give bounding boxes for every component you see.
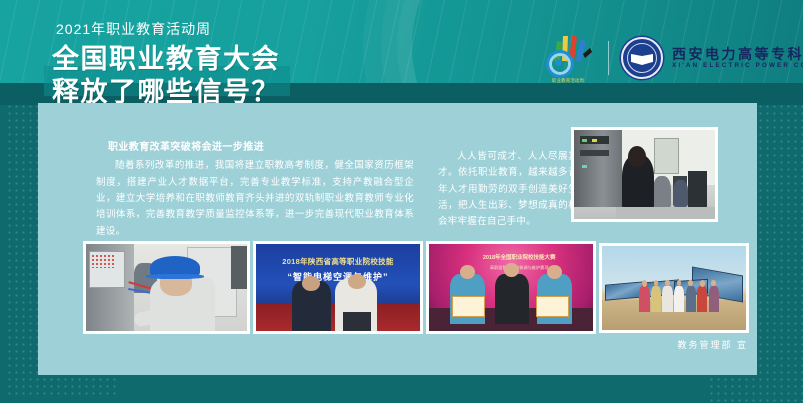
banner-text-line2: “智能电梯空调与维护”: [263, 270, 414, 283]
crest-book-shape: [631, 54, 653, 65]
poster-root: 2021年职业教育活动周 全国职业教育大会 释放了哪些信号？ 职业教育活动周 西…: [0, 0, 803, 403]
solar-farm-photo: [599, 243, 749, 333]
competition-banner-photo: 2018年陕西省高等职业院校技能 “智能电梯空调与维护”: [253, 241, 423, 334]
competition-banner-photo-art: 2018年陕西省高等职业院校技能 “智能电梯空调与维护”: [256, 244, 420, 331]
logo-divider: [608, 41, 609, 75]
college-name-block: 西安电力高等专科学校 XI'AN ELECTRIC POWER COLLEGE: [672, 47, 803, 69]
content-panel: 职业教育改革突破将会进一步推进 随着系列改革的推进，我国将建立职教高考制度，健全…: [38, 103, 757, 375]
footer-note: 教务管理部 宣: [598, 338, 748, 351]
computer-lab-photo: [571, 127, 718, 222]
swirl-icon: [546, 50, 574, 78]
electrical-panel-worker-photo-art: [86, 244, 247, 331]
header-kicker: 2021年职业教育活动周: [56, 19, 211, 39]
electrical-panel-worker-photo: [83, 241, 250, 334]
header-logo-group: 职业教育活动周 西安电力高等专科学校 XI'AN ELECTRIC POWER …: [540, 30, 803, 86]
award-ceremony-photo: 2018年全国职业院校技能大赛 高职组智能机电装调与维护赛项: [426, 241, 596, 334]
award-ceremony-photo-art: 2018年全国职业院校技能大赛 高职组智能机电装调与维护赛项: [429, 244, 593, 331]
right-paragraph-1: 人人皆可成才、人人尽展其才。依托职业教育，越来越多青年人才用勤劳的双手创造美好生…: [438, 149, 578, 231]
college-crest-icon: [621, 37, 663, 79]
college-logo: 西安电力高等专科学校 XI'AN ELECTRIC POWER COLLEGE: [621, 37, 803, 79]
section-heading: 职业教育改革突破将会进一步推进: [108, 139, 414, 156]
college-name-en: XI'AN ELECTRIC POWER COLLEGE: [672, 63, 803, 69]
solar-farm-photo-art: [602, 246, 746, 330]
vocational-logo-caption: 职业教育活动周: [540, 78, 596, 85]
award-banner-line1: 2018年全国职业院校技能大赛: [459, 253, 580, 261]
right-text-column: 人人皆可成才、人人尽展其才。依托职业教育，越来越多青年人才用勤劳的双手创造美好生…: [438, 149, 578, 231]
computer-lab-photo-art: [574, 130, 715, 219]
banner-text-line1: 2018年陕西省高等职业院校技能: [259, 256, 416, 267]
college-name-cn: 西安电力高等专科学校: [672, 47, 803, 61]
left-paragraph-1: 随着系列改革的推进，我国将建立职教高考制度，健全国家资历框架制度，搭建产业人才数…: [96, 158, 414, 240]
vocational-education-week-logo: 职业教育活动周: [540, 32, 596, 84]
